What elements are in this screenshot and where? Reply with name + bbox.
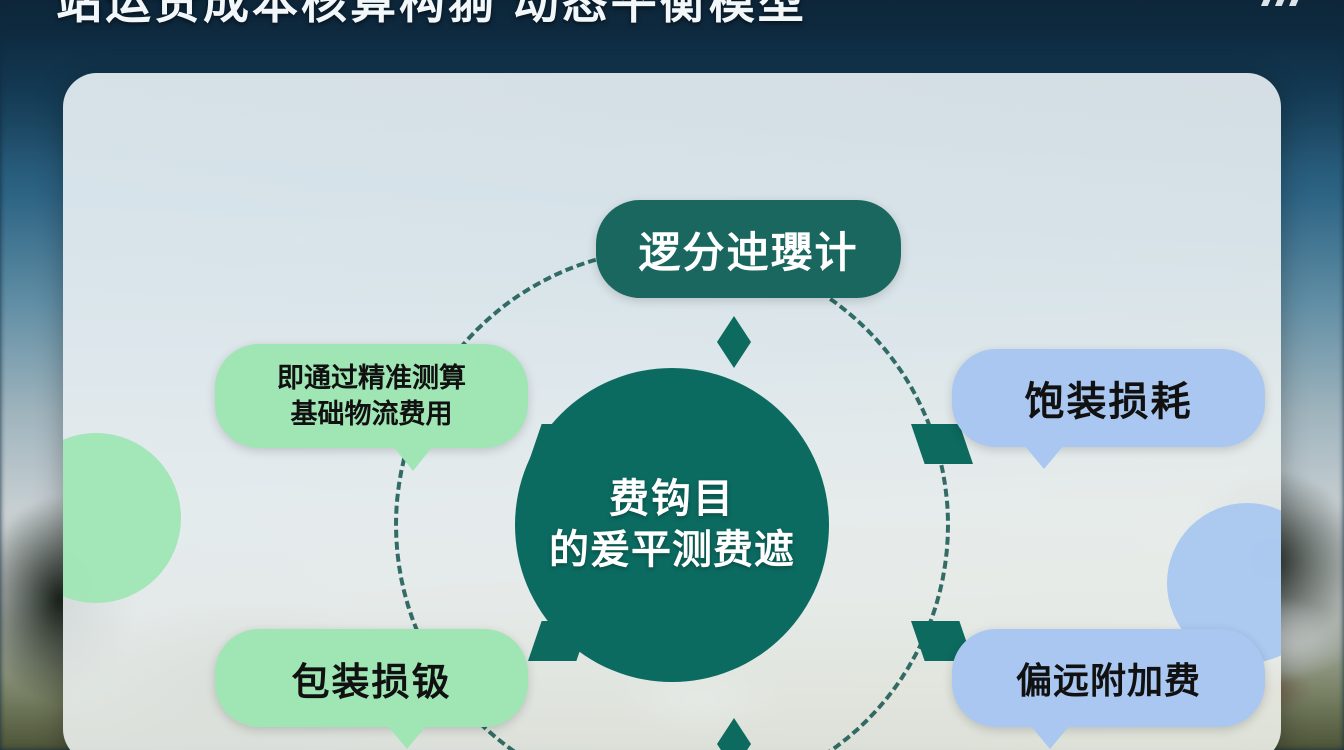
triple-chevron-right-icon[interactable] xyxy=(1261,0,1302,6)
node-right-top-label: 饱装损耗 xyxy=(1025,369,1193,427)
node-right-bottom[interactable]: 偏远附加费 xyxy=(952,629,1265,727)
chevron-3 xyxy=(1289,0,1302,6)
page-header: 站运贵成本核算构翑 动态平衡模型 xyxy=(0,0,1344,46)
center-hub[interactable]: 费钩目 的爰平测费遮 xyxy=(515,368,829,682)
diagram-card: 费钩目 的爰平测费遮 逻分迚瓔计 饱装损耗 偏远附加费 隐性成本 包装损钑 即通… xyxy=(63,73,1281,750)
center-hub-line2: 的爰平测费遮 xyxy=(549,525,795,576)
node-left-bottom-label: 包装损钑 xyxy=(291,651,451,706)
chevron-1 xyxy=(1261,0,1274,6)
decorative-blob-green xyxy=(63,433,181,603)
node-top-label: 逻分迚瓔计 xyxy=(638,219,858,280)
node-left-bottom[interactable]: 包装损钑 xyxy=(215,629,528,727)
page-title: 站运贵成本核算构翑 动态平衡模型 xyxy=(56,0,807,32)
center-hub-line1: 费钩目 xyxy=(609,474,735,525)
node-right-top-tail xyxy=(1024,445,1064,469)
node-right-top[interactable]: 饱装损耗 xyxy=(952,349,1265,447)
node-left-top-tail xyxy=(393,446,433,471)
node-left-top-line1: 即通过精准测算 xyxy=(277,360,466,396)
node-left-top[interactable]: 即通过精准测算 基础物流费用 xyxy=(215,344,528,448)
node-top[interactable]: 逻分迚瓔计 xyxy=(596,200,901,298)
chevron-2 xyxy=(1275,0,1288,6)
node-left-top-line2: 基础物流费用 xyxy=(291,396,453,432)
node-left-bottom-tail xyxy=(387,725,427,749)
node-right-bottom-tail xyxy=(1030,725,1070,749)
node-right-bottom-label: 偏远附加费 xyxy=(1016,652,1201,704)
